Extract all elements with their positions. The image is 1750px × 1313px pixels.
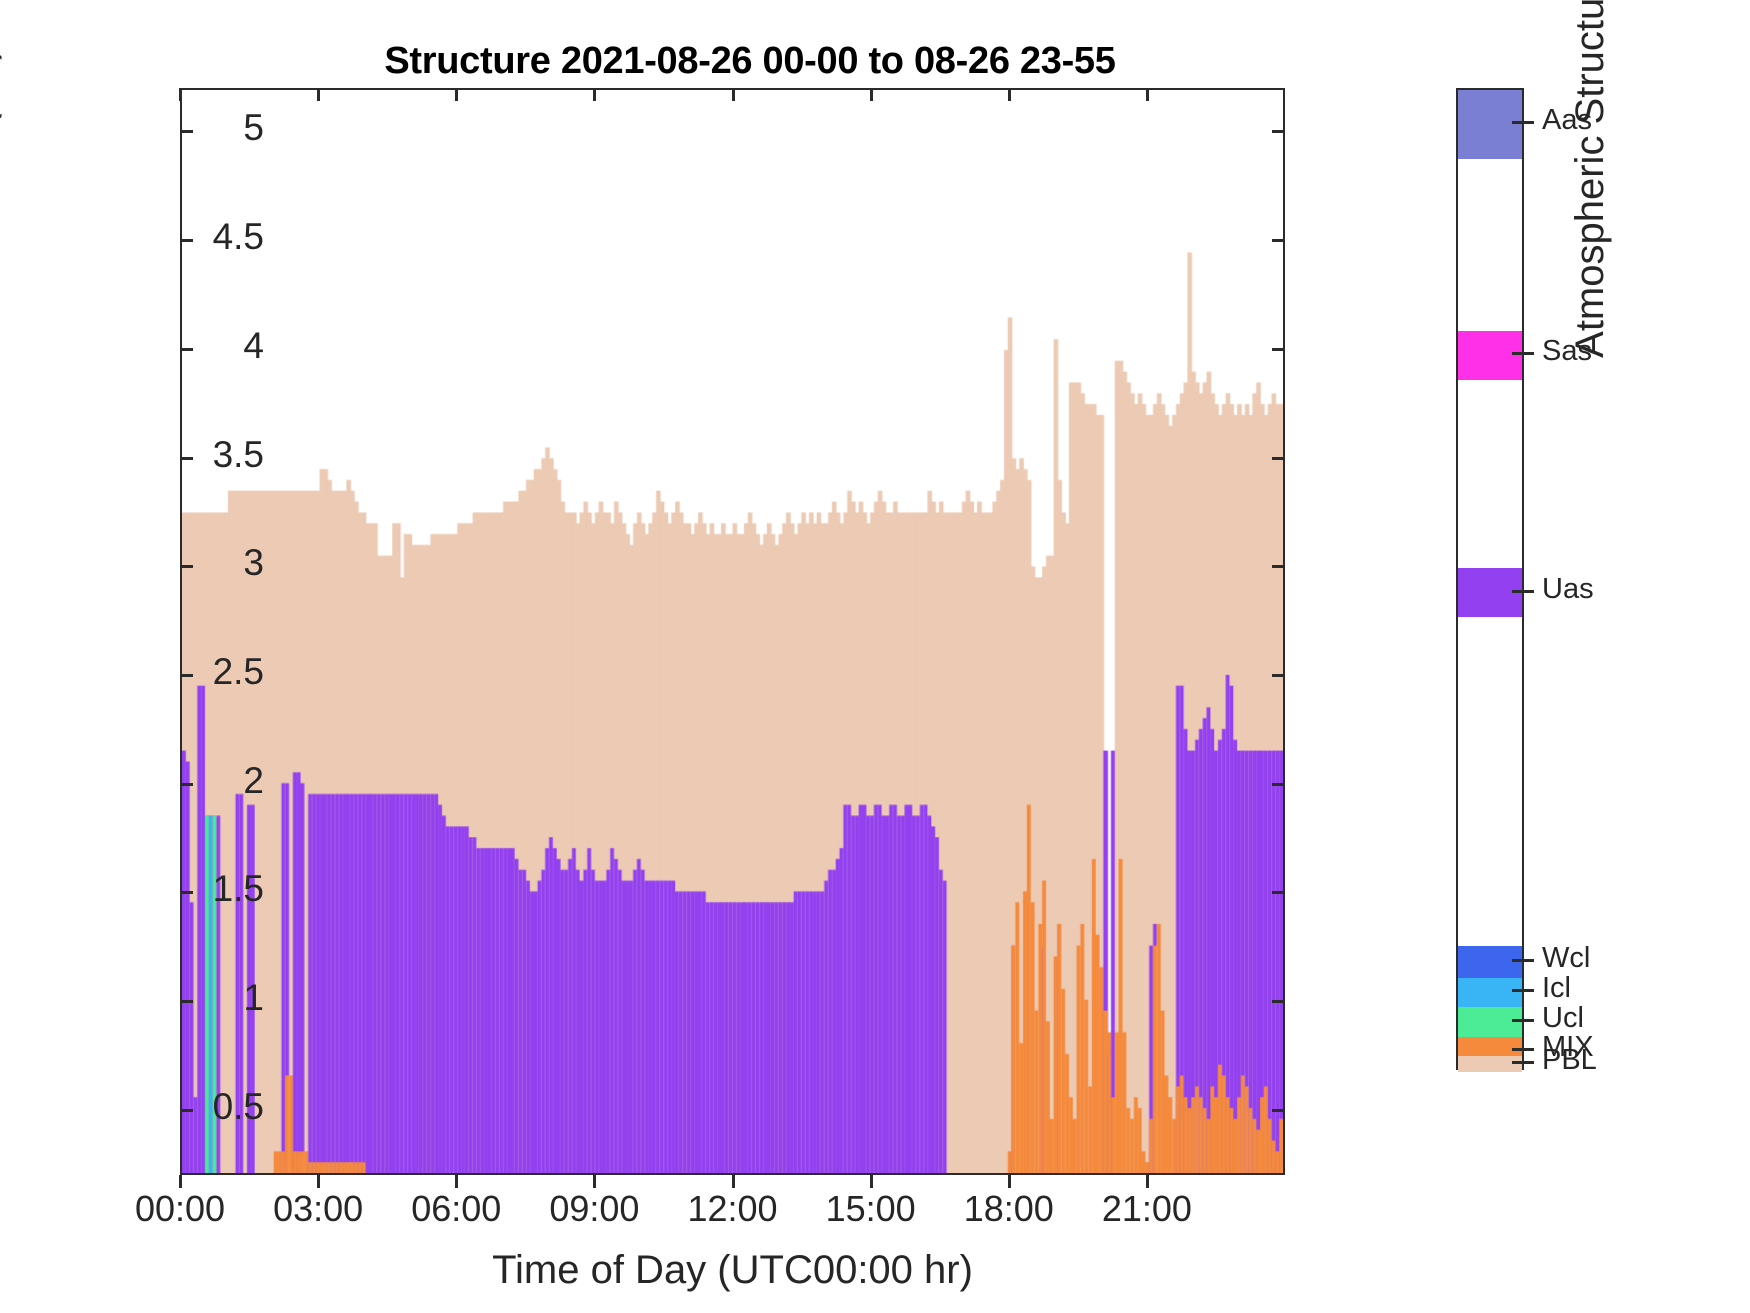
y-tick-label: 5 bbox=[144, 109, 264, 146]
x-tick-mark bbox=[179, 1175, 182, 1188]
colorbar-segment-sas bbox=[1458, 331, 1522, 380]
colorbar-frame bbox=[1456, 88, 1524, 1070]
colorbar-segment-aas bbox=[1458, 90, 1522, 159]
x-tick-mark-top bbox=[593, 88, 596, 101]
colorbar-tick-mix bbox=[1512, 1048, 1534, 1051]
x-tick-mark-top bbox=[455, 88, 458, 101]
y-tick-label: 4.5 bbox=[144, 218, 264, 255]
y-tick-mark-right bbox=[1272, 565, 1285, 568]
y-tick-label: 0.5 bbox=[144, 1088, 264, 1125]
colorbar-tick-ucl bbox=[1512, 1019, 1534, 1022]
page-title: Structure 2021-08-26 00-00 to 08-26 23-5… bbox=[200, 40, 1300, 83]
y-tick-mark bbox=[180, 457, 193, 460]
x-tick-label: 21:00 bbox=[1047, 1188, 1247, 1230]
y-tick-label: 3 bbox=[144, 544, 264, 581]
y-tick-label: 2.5 bbox=[144, 653, 264, 690]
y-tick-mark bbox=[180, 891, 193, 894]
x-tick-mark bbox=[593, 1175, 596, 1188]
y-tick-mark bbox=[180, 348, 193, 351]
colorbar: AasSasUasWclIclUclMIXPBL bbox=[1456, 88, 1524, 1070]
x-tick-mark bbox=[1146, 1175, 1149, 1188]
x-tick-mark-top bbox=[1146, 88, 1149, 101]
y-tick-mark-right bbox=[1272, 1000, 1285, 1003]
y-tick-mark bbox=[180, 130, 193, 133]
y-tick-mark-right bbox=[1272, 348, 1285, 351]
x-tick-mark bbox=[317, 1175, 320, 1188]
colorbar-label-pbl: PBL bbox=[1542, 1046, 1597, 1075]
x-tick-mark bbox=[455, 1175, 458, 1188]
colorbar-tick-pbl bbox=[1512, 1061, 1534, 1064]
x-tick-mark-top bbox=[317, 88, 320, 101]
colorbar-segment-ucl bbox=[1458, 1007, 1522, 1036]
y-tick-mark bbox=[180, 1109, 193, 1112]
colorbar-label-icl: Icl bbox=[1542, 974, 1571, 1003]
y-tick-mark bbox=[180, 239, 193, 242]
y-tick-mark-right bbox=[1272, 130, 1285, 133]
colorbar-tick-wcl bbox=[1512, 959, 1534, 962]
y-axis-title: Distance (km) bbox=[0, 0, 3, 400]
colorbar-tick-icl bbox=[1512, 989, 1534, 992]
colorbar-title: Atmospheric Structure bbox=[1568, 0, 1613, 370]
plot-area bbox=[180, 88, 1285, 1175]
x-axis-title: Time of Day (UTC00:00 hr) bbox=[180, 1248, 1285, 1293]
x-tick-mark-top bbox=[870, 88, 873, 101]
y-tick-mark bbox=[180, 674, 193, 677]
colorbar-tick-uas bbox=[1512, 590, 1534, 593]
y-tick-mark-right bbox=[1272, 891, 1285, 894]
x-tick-mark bbox=[870, 1175, 873, 1188]
y-tick-mark-right bbox=[1272, 457, 1285, 460]
colorbar-tick-sas bbox=[1512, 352, 1534, 355]
structure-plot-canvas bbox=[182, 90, 1283, 1173]
y-tick-label: 4 bbox=[144, 327, 264, 364]
y-tick-mark-right bbox=[1272, 783, 1285, 786]
atmospheric-structure-chart: Structure 2021-08-26 00-00 to 08-26 23-5… bbox=[0, 0, 1750, 1313]
y-tick-label: 2 bbox=[144, 762, 264, 799]
y-tick-mark bbox=[180, 783, 193, 786]
y-tick-label: 3.5 bbox=[144, 436, 264, 473]
x-tick-mark bbox=[732, 1175, 735, 1188]
y-tick-mark-right bbox=[1272, 239, 1285, 242]
x-tick-mark-top bbox=[179, 88, 182, 101]
x-tick-mark bbox=[1008, 1175, 1011, 1188]
y-tick-mark-right bbox=[1272, 674, 1285, 677]
colorbar-label-uas: Uas bbox=[1542, 575, 1594, 604]
x-tick-mark-top bbox=[1008, 88, 1011, 101]
y-tick-mark bbox=[180, 1000, 193, 1003]
y-tick-mark-right bbox=[1272, 1109, 1285, 1112]
y-tick-mark bbox=[180, 565, 193, 568]
colorbar-label-ucl: Ucl bbox=[1542, 1004, 1584, 1033]
y-tick-label: 1 bbox=[144, 979, 264, 1016]
colorbar-label-wcl: Wcl bbox=[1542, 944, 1590, 973]
y-tick-label: 1.5 bbox=[144, 870, 264, 907]
x-tick-mark-top bbox=[732, 88, 735, 101]
colorbar-tick-aas bbox=[1512, 121, 1534, 124]
